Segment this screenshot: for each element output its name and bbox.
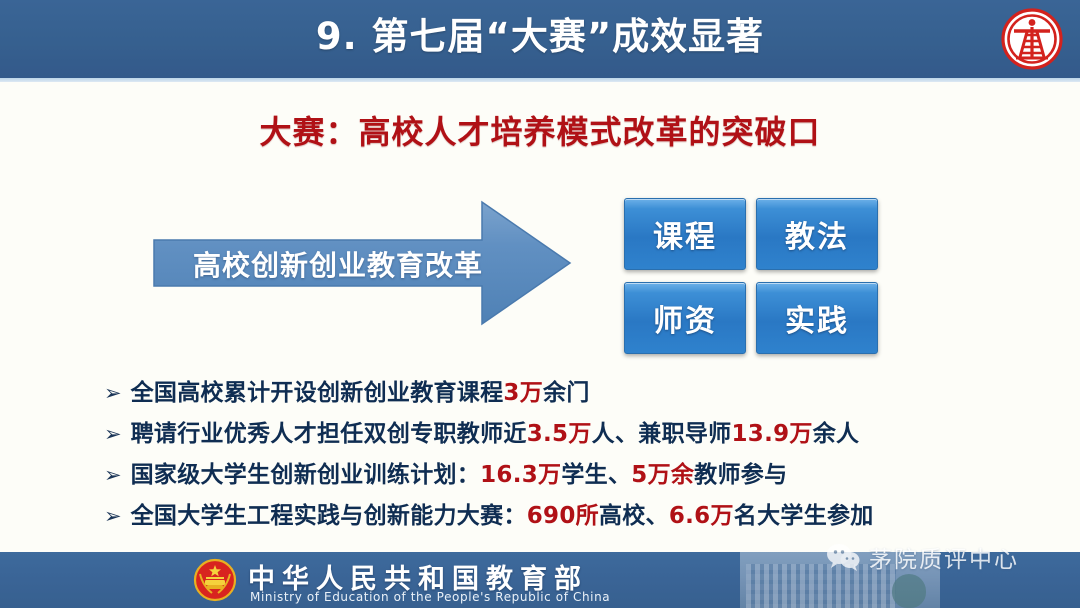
bullet-marker-icon: ➢ bbox=[104, 383, 122, 404]
bullet-highlight: 5万余 bbox=[631, 462, 694, 488]
box-practice-label: 实践 bbox=[785, 296, 849, 340]
bullet-plain: 余门 bbox=[543, 380, 590, 406]
bullet-text: 国家级大学生创新创业训练计划：16.3万学生、5万余教师参与 bbox=[131, 455, 788, 489]
bullet-highlight: 6.6万 bbox=[669, 503, 734, 529]
bullet-item: ➢全国高校累计开设创新创业教育课程3万余门 bbox=[104, 373, 1034, 414]
tower-emblem-icon bbox=[998, 5, 1066, 73]
bullet-plain: 学生、 bbox=[561, 462, 631, 488]
header-underline bbox=[0, 78, 1080, 82]
box-curriculum[interactable]: 课程 bbox=[624, 198, 746, 270]
bullet-marker-icon: ➢ bbox=[104, 424, 122, 445]
bullet-highlight: 13.9万 bbox=[731, 421, 812, 447]
bullet-plain: 全国大学生工程实践与创新能力大赛： bbox=[131, 503, 527, 529]
bullet-item: ➢聘请行业优秀人才担任双创专职教师近3.5万人、兼职导师13.9万余人 bbox=[104, 414, 1034, 455]
box-teaching-method[interactable]: 教法 bbox=[756, 198, 878, 270]
arrow-label: 高校创新创业教育改革 bbox=[178, 244, 498, 284]
page-title: 9. 第七届“大赛”成效显著 bbox=[0, 8, 1080, 66]
watermark: 茅院质评中心 bbox=[826, 540, 1019, 574]
box-faculty-label: 师资 bbox=[653, 296, 717, 340]
bullet-highlight: 16.3万 bbox=[480, 462, 561, 488]
bullet-plain: 名大学生参加 bbox=[734, 503, 874, 529]
footer-org-en: Ministry of Education of the People's Re… bbox=[250, 590, 610, 604]
box-faculty[interactable]: 师资 bbox=[624, 282, 746, 354]
bullet-item: ➢国家级大学生创新创业训练计划：16.3万学生、5万余教师参与 bbox=[104, 455, 1034, 496]
bullet-plain: 余人 bbox=[813, 421, 860, 447]
box-teaching-method-label: 教法 bbox=[785, 212, 849, 256]
bullet-list: ➢全国高校累计开设创新创业教育课程3万余门➢聘请行业优秀人才担任双创专职教师近3… bbox=[104, 373, 1034, 537]
national-emblem-icon bbox=[193, 558, 237, 602]
bullet-plain: 国家级大学生创新创业训练计划： bbox=[131, 462, 481, 488]
bullet-marker-icon: ➢ bbox=[104, 506, 122, 527]
bullet-plain: 教师参与 bbox=[694, 462, 787, 488]
process-arrow: 高校创新创业教育改革 bbox=[152, 196, 574, 330]
bullet-highlight: 690所 bbox=[527, 503, 599, 529]
bullet-text: 全国大学生工程实践与创新能力大赛：690所高校、6.6万名大学生参加 bbox=[131, 496, 874, 530]
campus-tree bbox=[892, 574, 926, 608]
watermark-text: 茅院质评中心 bbox=[869, 540, 1019, 574]
bullet-text: 全国高校累计开设创新创业教育课程3万余门 bbox=[131, 373, 590, 407]
bullet-highlight: 3.5万 bbox=[527, 421, 592, 447]
bullet-item: ➢全国大学生工程实践与创新能力大赛：690所高校、6.6万名大学生参加 bbox=[104, 496, 1034, 537]
bullet-plain: 高校、 bbox=[599, 503, 669, 529]
bullet-highlight: 3万 bbox=[503, 380, 543, 406]
slide: 9. 第七届“大赛”成效显著 大赛：高校人才培养模式改革的突破口 高校创新创业教… bbox=[0, 0, 1080, 608]
subtitle: 大赛：高校人才培养模式改革的突破口 bbox=[0, 107, 1080, 153]
bullet-text: 聘请行业优秀人才担任双创专职教师近3.5万人、兼职导师13.9万余人 bbox=[131, 414, 860, 448]
bullet-plain: 全国高校累计开设创新创业教育课程 bbox=[131, 380, 504, 406]
bullet-plain: 聘请行业优秀人才担任双创专职教师近 bbox=[131, 421, 527, 447]
box-practice[interactable]: 实践 bbox=[756, 282, 878, 354]
bullet-marker-icon: ➢ bbox=[104, 465, 122, 486]
wechat-icon bbox=[826, 543, 860, 571]
bullet-plain: 人、兼职导师 bbox=[592, 421, 732, 447]
box-curriculum-label: 课程 bbox=[653, 212, 717, 256]
